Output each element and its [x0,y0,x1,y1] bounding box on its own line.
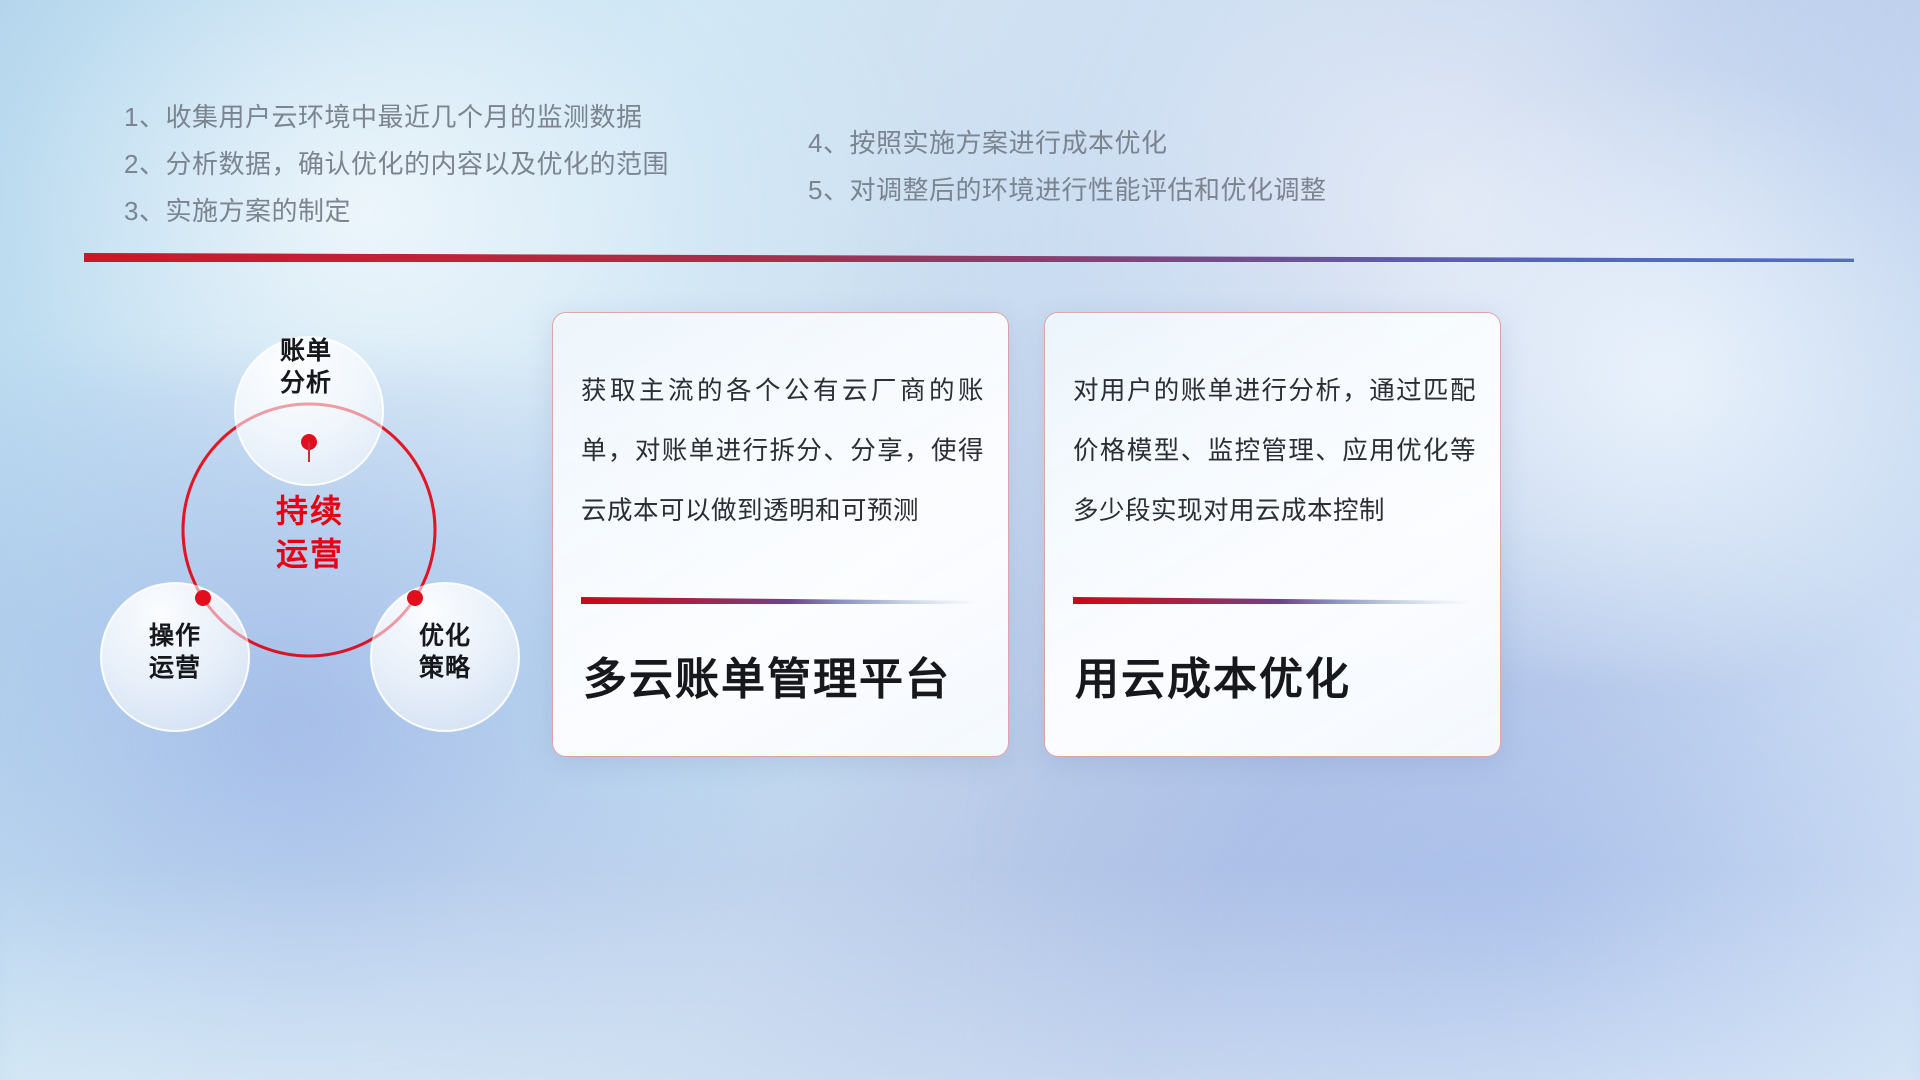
venn-label-left: 操作 运营 [115,620,235,684]
background-bottom-fade [0,864,1920,1080]
feature-card-2-body: 对用户的账单进行分析，通过匹配价格模型、监控管理、应用优化等多少段实现对用云成本… [1073,361,1476,541]
step-item-2: 2、分析数据，确认优化的内容以及优化的范围 [124,141,669,188]
feature-card-2-title: 用云成本优化 [1075,643,1351,707]
feature-card-2-rule [1073,597,1471,604]
feature-card-1-rule [581,597,979,604]
venn-node-dot-left [195,590,211,606]
step-item-1: 1、收集用户云环境中最近几个月的监测数据 [124,94,669,141]
venn-label-right: 优化 策略 [385,620,505,684]
venn-diagram: 账单 分析 操作 运营 优化 策略 持续 运营 [70,290,540,770]
feature-card-1-title: 多云账单管理平台 [583,643,951,707]
step-item-3: 3、实施方案的制定 [124,188,669,235]
steps-list-right: 4、按照实施方案进行成本优化 5、对调整后的环境进行性能评估和优化调整 [808,120,1326,214]
feature-card-1-body: 获取主流的各个公有云厂商的账单，对账单进行拆分、分享，使得云成本可以做到透明和可… [581,361,984,541]
venn-label-top: 账单 分析 [246,335,366,399]
venn-node-dot-right [407,590,423,606]
feature-card-2[interactable]: 对用户的账单进行分析，通过匹配价格模型、监控管理、应用优化等多少段实现对用云成本… [1044,312,1501,757]
venn-label-center: 持续 运营 [250,490,370,576]
step-item-4: 4、按照实施方案进行成本优化 [808,120,1326,167]
feature-card-1[interactable]: 获取主流的各个公有云厂商的账单，对账单进行拆分、分享，使得云成本可以做到透明和可… [552,312,1009,757]
steps-list-left: 1、收集用户云环境中最近几个月的监测数据 2、分析数据，确认优化的内容以及优化的… [124,94,669,235]
slide-canvas: 1、收集用户云环境中最近几个月的监测数据 2、分析数据，确认优化的内容以及优化的… [0,0,1920,1080]
step-item-5: 5、对调整后的环境进行性能评估和优化调整 [808,167,1326,214]
